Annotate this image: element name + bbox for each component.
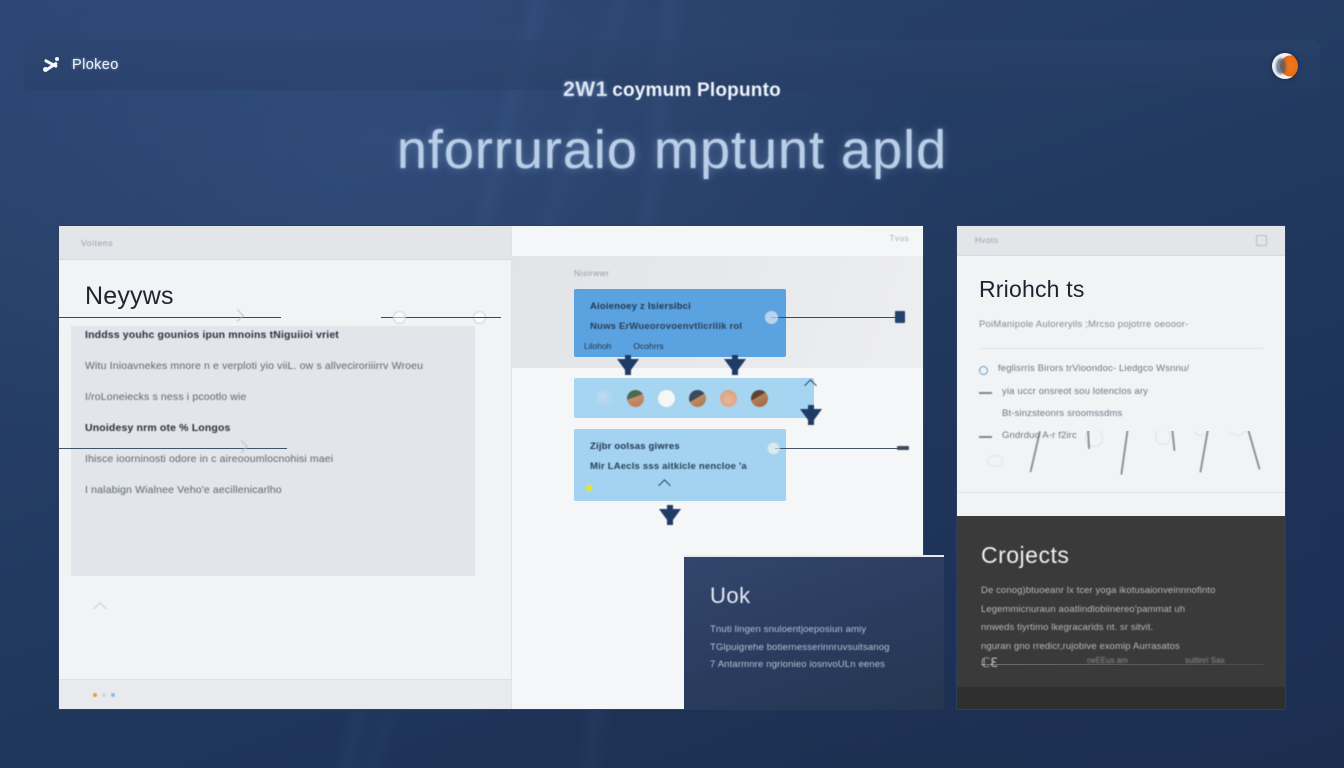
right-card: Hvoto Rriohch ts PoiManipole Auloreryils… [956, 225, 1286, 710]
list-item-label: feglisrris Birors trVioondoc- Liedgco Ws… [998, 363, 1189, 374]
connector-line [59, 448, 287, 449]
projects-heading: Crojects [981, 542, 1263, 569]
arrow-down-icon [800, 409, 822, 424]
flow-node-line: Zijbr oolsas giwres [590, 441, 770, 452]
dash-marker-icon [979, 392, 992, 394]
avatar[interactable] [627, 390, 644, 407]
list-item[interactable]: feglisrris Birors trVioondoc- Liedgco Ws… [979, 363, 1263, 375]
arrow-down-icon [659, 509, 681, 524]
middle-section-label: Nisirwwr [574, 268, 609, 278]
ghost-stroke [1199, 431, 1208, 472]
ghost-stroke [1247, 431, 1260, 470]
left-text-line: Witu Inioavnekes mnore n e verploti yio … [85, 360, 439, 372]
flow-node-tag: Lilohoh [584, 341, 611, 351]
uok-panel: Uok Tnuti lingen snuloentjoeposiun amiy … [684, 555, 944, 710]
projects-ghost-text: suttinri Sas [1185, 656, 1225, 665]
connector-endpoint [895, 311, 905, 323]
ghost-stroke [1120, 431, 1128, 475]
ghost-stroke [1030, 431, 1041, 472]
right-divider [957, 492, 1285, 493]
connector-line [771, 317, 903, 318]
right-card-header-title: Hvoto [975, 236, 998, 245]
ghost-stroke [1171, 431, 1175, 451]
list-item-label: Bt-sinzsteonrs sroomssdms [1002, 408, 1122, 419]
flow-node-tag: Ocohrrs [633, 341, 663, 351]
left-content: Neyyws Inddss youhc gounios ipun mnoins … [59, 260, 465, 496]
status-dot [586, 485, 592, 491]
projects-footer-strip [957, 687, 1286, 710]
left-text-line: Ihisce ioorninosti odore in c aireooumlo… [85, 453, 439, 465]
ghost-circle [987, 455, 1003, 467]
flow-node-line: Nuws ErWueorovoenvtlicrilik rol [590, 321, 770, 332]
center-title-text: coymum Plopunto [612, 80, 781, 101]
content-stage: Voitens Neyyws Inddss youhc gounios ipun… [58, 225, 1286, 710]
left-text-line: Inddss youhc gounios ipun mnoins tNiguii… [85, 329, 439, 341]
flow-node-line: Aioienoey z Isiersibci [590, 301, 770, 312]
right-top-content: Rriohch ts PoiManipole Auloreryils ;Mrcs… [957, 256, 1285, 518]
right-card-header: Hvoto [957, 226, 1285, 256]
list-item[interactable]: yia uccr onsreot sou lotenclos ary [979, 386, 1263, 397]
flow-node-secondary[interactable]: Zijbr oolsas giwres Mir LAecls sss aitki… [574, 429, 786, 501]
left-card-header-title: Voitens [81, 238, 113, 248]
ghost-circle [1229, 431, 1246, 436]
connector-line [775, 448, 903, 449]
brand-name: Plokeo [72, 57, 119, 73]
projects-line: nguran gno rredicr,rujobive exomip Aurra… [981, 638, 1263, 657]
footer-dot [93, 693, 97, 697]
projects-line: nnweds tiyrtimo lkegracarids nt. sr sitv… [981, 619, 1263, 638]
avatar[interactable] [689, 390, 706, 407]
middle-header-title: Tvus [890, 234, 909, 243]
footer-dot [102, 693, 106, 697]
list-item[interactable]: Bt-sinzsteonrs sroomssdms [979, 408, 1263, 419]
arrow-down-icon [724, 359, 746, 374]
footer-dot [111, 693, 115, 697]
uok-line: Tnuti lingen snuloentjoeposiun amiy [710, 621, 918, 639]
right-ghost-graphics [957, 431, 1285, 516]
flow-node-line: Mir LAecls sss aitkicle nencloe 'a [590, 461, 770, 472]
connector-knob [393, 311, 406, 324]
connector-knob [765, 311, 778, 324]
connector-line [59, 317, 281, 318]
top-bar: Plokeo 2W1 coymum Plopunto [24, 40, 1320, 90]
uok-heading: Uok [710, 583, 918, 609]
signature-icon: ℂℇ [981, 655, 998, 671]
chevron-up-icon[interactable] [93, 602, 107, 616]
projects-ghost-text: ceEEus am [1087, 656, 1128, 665]
flow-node-avatars[interactable] [574, 378, 814, 418]
user-avatar-badge[interactable] [1272, 53, 1298, 79]
brand[interactable]: Plokeo [42, 55, 119, 75]
ghost-circle [1155, 431, 1171, 445]
avatar[interactable] [658, 390, 675, 407]
arrow-down-icon [617, 359, 639, 374]
connector-endpoint [897, 446, 909, 450]
avatar[interactable] [720, 390, 737, 407]
right-heading: Rriohch ts [979, 276, 1263, 303]
right-subtitle: PoiManipole Auloreryils ;Mrcso pojotrre … [979, 319, 1263, 349]
left-heading: Neyyws [85, 282, 439, 311]
left-text-line: I nalabign Wialnee Veho'e aecillenicarlh… [85, 484, 439, 496]
circle-marker-icon [979, 366, 988, 375]
projects-line: Legemmicnuraun aoatlindlobiinereo'pammat… [981, 601, 1263, 620]
projects-panel: Crojects De conog)btuoeanr lx tcer yoga … [957, 516, 1286, 710]
topbar-center-title: 2W1 coymum Plopunto [24, 78, 1320, 102]
scissors-logo-icon [42, 55, 62, 75]
page-title: nforruraio mptunt apld [0, 122, 1344, 179]
uok-line: 7 Antarmnre ngrionieo iosnvoULn eenes [710, 656, 918, 674]
refresh-icon[interactable] [1256, 235, 1267, 246]
avatar-row [590, 390, 798, 406]
list-item-label: yia uccr onsreot sou lotenclos ary [1002, 386, 1148, 397]
left-text-line: Unoidesy nrm ote % Longos [85, 422, 439, 434]
avatar[interactable] [596, 390, 613, 407]
uok-line: TGlpuigrehe botiernesserinnruvsuitsanog [710, 639, 918, 657]
center-logo-text: 2W1 [563, 78, 608, 101]
left-text-line: I/roLoneiecks s ness i pcootlo wie [85, 391, 439, 403]
connector-knob [767, 442, 780, 455]
flow-node-primary[interactable]: Aioienoey z Isiersibci Nuws ErWueorovoen… [574, 289, 786, 357]
hero: nforruraio mptunt apld [0, 122, 1344, 179]
projects-line: De conog)btuoeanr lx tcer yoga ikotusaio… [981, 582, 1263, 601]
avatar[interactable] [751, 390, 768, 407]
